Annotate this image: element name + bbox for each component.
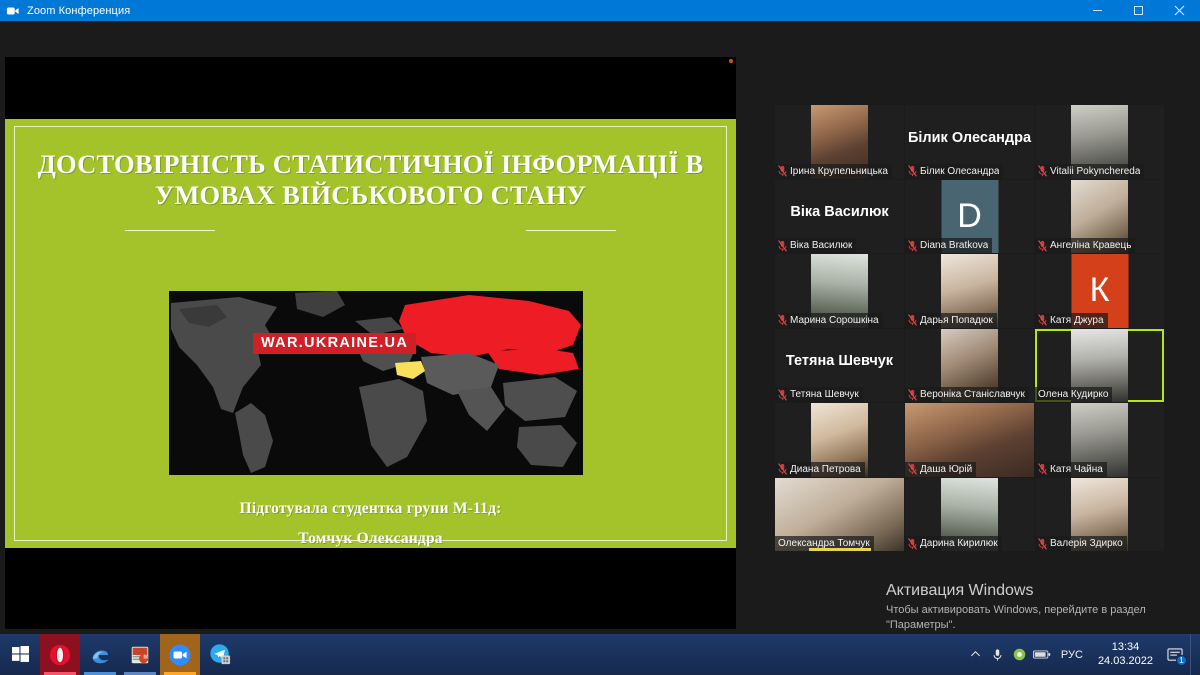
battery-icon[interactable] — [1031, 634, 1053, 675]
minimize-button[interactable] — [1077, 0, 1118, 21]
mic-muted-icon — [778, 240, 787, 252]
microphone-icon[interactable] — [987, 634, 1009, 675]
telegram-taskbar-button[interactable] — [200, 634, 240, 675]
maximize-button[interactable] — [1118, 0, 1159, 21]
participant-name: Катя Чайна — [1050, 464, 1103, 475]
mic-muted-icon — [908, 389, 917, 401]
participant-name-bar: Дарина Кирилюк — [905, 536, 1002, 551]
zoom-video-icon — [4, 2, 22, 20]
clock-time: 13:34 — [1112, 641, 1140, 655]
participant-name-bar: Катя Чайна — [1035, 462, 1107, 477]
participant-tile[interactable]: Диана Петрова — [775, 403, 904, 477]
window-controls — [1077, 0, 1200, 21]
participant-tile[interactable]: Олена Кудирко — [1035, 329, 1164, 403]
slide-decorative-line-left — [125, 230, 215, 231]
participant-name: Олена Кудирко — [1038, 389, 1108, 400]
participant-tile[interactable]: ККатя Джура — [1035, 254, 1164, 328]
notification-icon[interactable]: 1 — [1160, 634, 1190, 675]
participant-tile[interactable]: Дарина Кирилюк — [905, 478, 1034, 552]
mic-muted-icon — [908, 538, 917, 550]
mic-muted-icon — [1038, 240, 1047, 252]
participant-name: Вероніка Станіславчук — [920, 389, 1025, 400]
participant-tile[interactable]: Ангеліна Кравець — [1035, 180, 1164, 254]
participant-row: Ірина КрупельницькаБілик ОлесандраБілик … — [775, 105, 1165, 179]
participant-tile[interactable]: Катя Чайна — [1035, 403, 1164, 477]
participant-tile[interactable]: Дарья Попадюк — [905, 254, 1034, 328]
powerpoint-icon — [129, 644, 151, 666]
participant-name-bar: Валерія Здирко — [1035, 536, 1127, 551]
telegram-icon — [209, 643, 232, 666]
participant-name-bar: Диана Петрова — [775, 462, 865, 477]
participant-name: Віка Василюк — [790, 240, 852, 251]
language-indicator[interactable]: РУС — [1053, 649, 1091, 661]
participant-name: Валерія Здирко — [1050, 538, 1123, 549]
participant-name-bar: Вероніка Станіславчук — [905, 387, 1029, 402]
mic-muted-icon — [1038, 538, 1047, 550]
participant-tile[interactable]: Vitalii Pokynchereda — [1035, 105, 1164, 179]
participant-name: Тетяна Шевчук — [790, 389, 859, 400]
participant-name: Ірина Крупельницька — [790, 166, 888, 177]
clock[interactable]: 13:34 24.03.2022 — [1091, 634, 1160, 675]
participant-video-strip[interactable]: Ірина КрупельницькаБілик ОлесандраБілик … — [775, 105, 1165, 577]
participant-name: Ангеліна Кравець — [1050, 240, 1131, 251]
slide-subtitle-line2: Томчук Олександра — [23, 530, 718, 548]
start-button[interactable] — [0, 634, 40, 675]
opera-icon — [49, 644, 71, 666]
slide-subtitle-line1: Підготувала студентка групи М-11д: — [23, 500, 718, 518]
powerpoint-taskbar-button[interactable] — [120, 634, 160, 675]
show-desktop-button[interactable] — [1190, 634, 1196, 675]
participant-name: Diana Bratkova — [920, 240, 988, 251]
presentation-slide: ДОСТОВІРНІСТЬ СТАТИСТИЧНОЇ ІНФОРМАЦІЇ В … — [5, 119, 736, 548]
participant-name-bar: Білик Олесандра — [905, 164, 1003, 179]
mic-muted-icon — [778, 389, 787, 401]
windows-logo-icon — [12, 646, 29, 663]
mic-muted-icon — [1038, 165, 1047, 177]
watermark-line2: "Параметры". — [886, 618, 1186, 633]
participant-tile[interactable]: Тетяна ШевчукТетяна Шевчук — [775, 329, 904, 403]
notification-badge: 1 — [1176, 655, 1187, 666]
world-map-image: WAR.UKRAINE.UA — [169, 291, 583, 475]
participant-tile[interactable]: Ірина Крупельницька — [775, 105, 904, 179]
participant-name-bar: Даша Юрій — [905, 462, 976, 477]
security-icon[interactable] — [1009, 634, 1031, 675]
participant-name-bar: Ангеліна Кравець — [1035, 238, 1135, 253]
zoom-video-icon — [168, 643, 192, 667]
windows-activation-watermark: Активация Windows Чтобы активировать Win… — [886, 582, 1186, 633]
participant-name-bar: Олена Кудирко — [1035, 387, 1112, 402]
participant-name-bar: Дарья Попадюк — [905, 313, 997, 328]
mic-muted-icon — [1038, 314, 1047, 326]
participant-name: Диана Петрова — [790, 464, 861, 475]
map-vector — [169, 291, 583, 475]
participant-tile[interactable]: DDiana Bratkova — [905, 180, 1034, 254]
recording-indicator-dot — [729, 59, 733, 63]
participant-name-bar: Тетяна Шевчук — [775, 387, 863, 402]
participant-name-bar: Diana Bratkova — [905, 238, 992, 253]
window-title-bar: Zoom Конференция — [0, 0, 1200, 21]
mic-muted-icon — [908, 314, 917, 326]
system-tray[interactable]: РУС 13:34 24.03.2022 1 — [965, 634, 1200, 675]
watermark-line1: Чтобы активировать Windows, перейдите в … — [886, 603, 1186, 618]
participant-name: Дарина Кирилюк — [920, 538, 998, 549]
participant-name: Даша Юрій — [920, 464, 972, 475]
war-ukraine-banner: WAR.UKRAINE.UA — [253, 333, 416, 354]
slide-title: ДОСТОВІРНІСТЬ СТАТИСТИЧНОЇ ІНФОРМАЦІЇ В … — [23, 149, 718, 212]
participant-name: Vitalii Pokynchereda — [1050, 166, 1140, 177]
participant-name-bar: Ірина Крупельницька — [775, 164, 892, 179]
participant-name-bar: Катя Джура — [1035, 313, 1108, 328]
slide-decorative-line-right — [526, 230, 616, 231]
participant-tile[interactable]: Віка ВасилюкВіка Василюк — [775, 180, 904, 254]
edge-icon — [89, 644, 111, 666]
participant-tile[interactable]: Марина Сорошкіна — [775, 254, 904, 328]
participant-tile[interactable]: Білик ОлесандраБілик Олесандра — [905, 105, 1034, 179]
participant-name: Дарья Попадюк — [920, 315, 993, 326]
zoom-taskbar-button[interactable] — [160, 634, 200, 675]
clock-date: 24.03.2022 — [1098, 655, 1153, 669]
watermark-title: Активация Windows — [886, 582, 1186, 600]
mic-muted-icon — [778, 314, 787, 326]
mic-muted-icon — [908, 240, 917, 252]
participant-row: Олександра ТомчукДарина КирилюкВалерія З… — [775, 478, 1165, 552]
participant-row: Марина СорошкінаДарья ПопадюкККатя Джура — [775, 254, 1165, 328]
chevron-up-icon[interactable] — [965, 634, 987, 675]
participant-row: Віка ВасилюкВіка ВасилюкDDiana BratkovaА… — [775, 180, 1165, 254]
speaking-indicator-bar — [809, 548, 871, 551]
participant-name-bar: Vitalii Pokynchereda — [1035, 164, 1144, 179]
opera-taskbar-button[interactable] — [40, 634, 80, 675]
mic-muted-icon — [778, 463, 787, 475]
zoom-meeting-window: ДОСТОВІРНІСТЬ СТАТИСТИЧНОЇ ІНФОРМАЦІЇ В … — [0, 21, 1200, 634]
participant-name-bar: Віка Василюк — [775, 238, 856, 253]
participant-name: Білик Олесандра — [920, 166, 999, 177]
participant-name: Катя Джура — [1050, 315, 1104, 326]
shared-screen-area[interactable]: ДОСТОВІРНІСТЬ СТАТИСТИЧНОЇ ІНФОРМАЦІЇ В … — [5, 57, 736, 629]
participant-tile[interactable]: Олександра Томчук — [775, 478, 904, 552]
windows-taskbar[interactable]: РУС 13:34 24.03.2022 1 — [0, 634, 1200, 675]
window-title: Zoom Конференция — [27, 5, 130, 17]
participant-row: Диана ПетроваДаша ЮрійКатя Чайна — [775, 403, 1165, 477]
participant-row: Тетяна ШевчукТетяна ШевчукВероніка Стані… — [775, 329, 1165, 403]
edge-taskbar-button[interactable] — [80, 634, 120, 675]
mic-muted-icon — [908, 165, 917, 177]
mic-muted-icon — [908, 463, 917, 475]
participant-tile[interactable]: Вероніка Станіславчук — [905, 329, 1034, 403]
participant-tile[interactable]: Валерія Здирко — [1035, 478, 1164, 552]
close-button[interactable] — [1159, 0, 1200, 21]
participant-name: Марина Сорошкіна — [790, 315, 879, 326]
participant-tile[interactable]: Даша Юрій — [905, 403, 1034, 477]
mic-muted-icon — [778, 165, 787, 177]
mic-muted-icon — [1038, 463, 1047, 475]
participant-name-bar: Марина Сорошкіна — [775, 313, 883, 328]
